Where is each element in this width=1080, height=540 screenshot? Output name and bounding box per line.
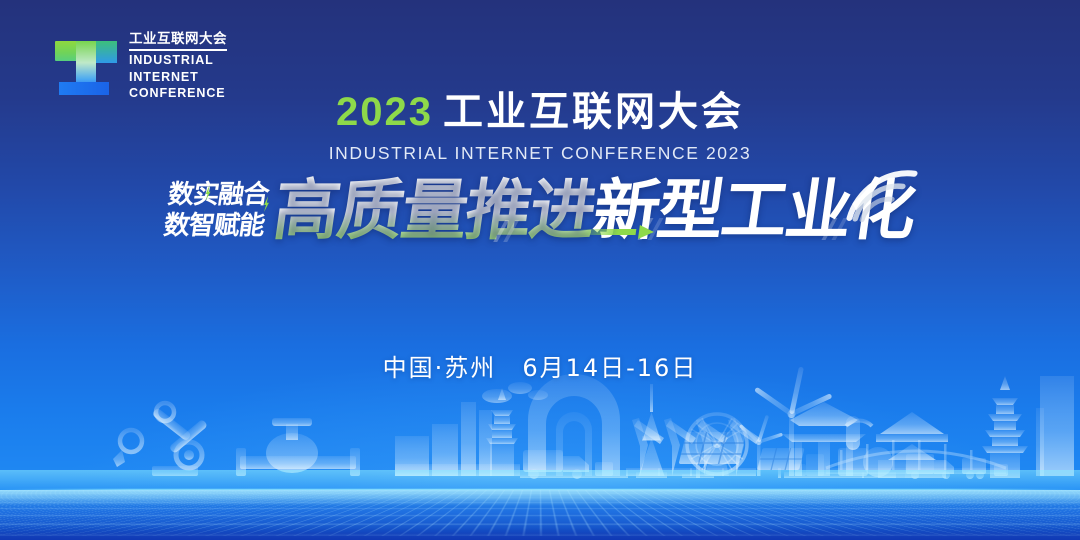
event-title: 2023工业互联网大会 (0, 92, 1080, 132)
event-title-cn: 工业互联网大会 (443, 89, 744, 135)
slogan-secondary: 数实融合 数智赋能 (162, 182, 270, 240)
event-title-block: 2023工业互联网大会 INDUSTRIAL INTERNET CONFEREN… (0, 92, 1080, 164)
event-title-en: INDUSTRIAL INTERNET CONFERENCE 2023 (0, 143, 1080, 164)
green-arrow-icon (577, 225, 655, 238)
slogan-secondary-line2: 数智赋能 (162, 213, 266, 241)
ground-shine (0, 490, 1080, 506)
event-title-year: 2023 (336, 90, 433, 134)
brand-name-en-line1: INDUSTRIAL (129, 53, 227, 68)
perspective-grid-ground (0, 490, 1080, 540)
conference-banner: 工业互联网大会 INDUSTRIAL INTERNET CONFERENCE 2… (0, 0, 1080, 540)
conference-t-logo-icon (55, 35, 117, 97)
slogan-block: 数实融合 数智赋能 高质量推进新型工业化 (0, 178, 1080, 244)
brand-logo-text: 工业互联网大会 INDUSTRIAL INTERNET CONFERENCE (129, 30, 227, 101)
slogan-primary-part1: 高质量推进 (269, 172, 600, 249)
brand-logo: 工业互联网大会 INDUSTRIAL INTERNET CONFERENCE (55, 30, 227, 101)
brand-name-cn: 工业互联网大会 (129, 32, 227, 51)
ground-deep-shadow (0, 528, 1080, 540)
brand-name-en-line2: INTERNET (129, 70, 227, 85)
wifi-signal-icon (838, 155, 929, 235)
slogan-secondary-line1: 数实融合 (166, 182, 270, 210)
bridge-layer (0, 338, 1080, 488)
